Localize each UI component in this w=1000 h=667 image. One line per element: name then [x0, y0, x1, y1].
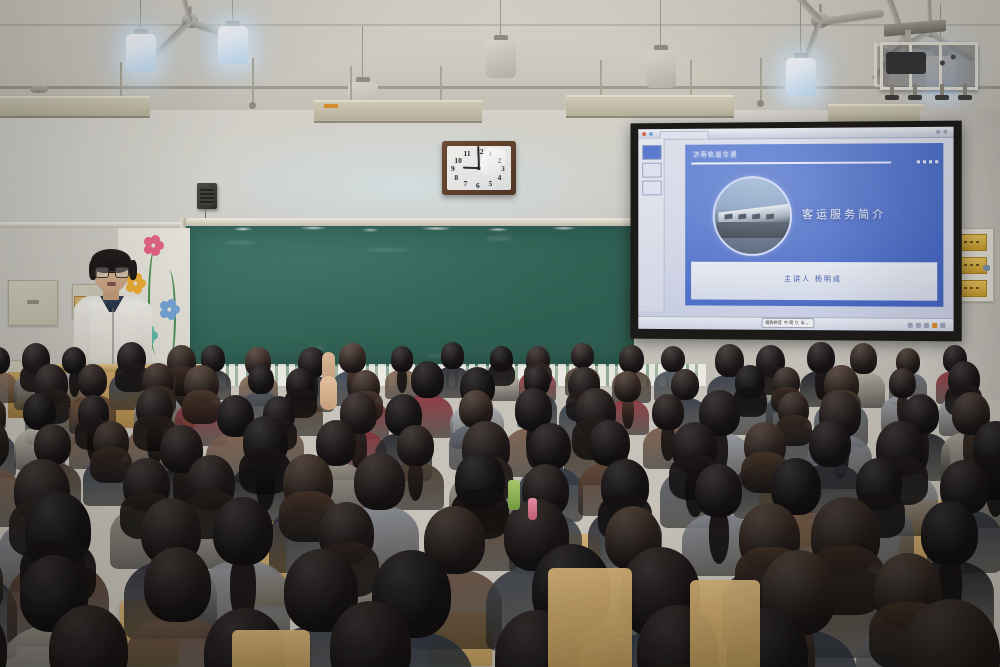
fluorescent-tube [126, 34, 156, 72]
flower-blue-icon [158, 298, 180, 320]
clock-numeral: 5 [489, 179, 493, 188]
chalk-dust [190, 224, 630, 234]
app-tab[interactable] [660, 130, 709, 139]
beam-knob [249, 102, 256, 109]
audience-member-head [619, 345, 644, 373]
projector-leg-foot [908, 95, 922, 100]
presenter-hair-side [129, 260, 137, 280]
app-titlebar [638, 127, 953, 140]
clock-numeral: 6 [476, 181, 480, 190]
audience-member-head [809, 420, 851, 467]
clock-numeral: 9 [451, 164, 455, 173]
smoke-detector-icon [30, 85, 48, 93]
audience-member-head [529, 423, 571, 470]
clock-numeral: 11 [464, 149, 471, 158]
audience-member-head [0, 347, 10, 374]
light-suspension-wire [660, 0, 661, 50]
wall-light-glow [170, 120, 640, 230]
projector-leg-foot [958, 95, 972, 100]
projector-leg-foot [885, 95, 899, 100]
clock-numeral: 10 [454, 156, 462, 165]
water-bottle [528, 498, 537, 520]
audience-member-head [652, 394, 684, 430]
presentation-app-window[interactable]: 济南轨道交通 客运服务简介 主讲人 杨明成 [638, 127, 953, 332]
electrical-panel [8, 280, 58, 326]
slide-presenter-line: 主讲人 杨明成 [691, 274, 937, 285]
slide-progress-dot [935, 160, 939, 163]
window-shade [566, 95, 734, 118]
window-shade [314, 100, 482, 123]
audience-member-head [397, 425, 433, 466]
ime-secondary-label: 搜狗拼音 [765, 320, 782, 326]
fluorescent-tube [786, 58, 816, 96]
audience-member-head [441, 342, 465, 369]
app-statusbar: 搜狗拼音 中 简 り 半 ， [638, 316, 953, 331]
projector-icon [886, 52, 926, 74]
tray-icon[interactable] [908, 323, 913, 328]
audience-member-head [248, 365, 274, 394]
ceiling-seam-lower [0, 86, 1000, 89]
audience-member-ponytail [709, 509, 729, 564]
audience-member-head [695, 464, 743, 518]
chair-back-foreground [548, 568, 632, 667]
slide-header-rule [691, 161, 892, 164]
water-bottle [508, 480, 520, 510]
audience-member-head [213, 497, 273, 565]
ime-language-bar[interactable]: 搜狗拼音 中 简 り 半 ， [761, 318, 814, 328]
beam-knob [757, 100, 764, 107]
audience-member-head [889, 368, 916, 399]
audience-member-head [411, 361, 444, 398]
projection-screen-surface: 济南轨道交通 客运服务简介 主讲人 杨明成 [638, 127, 953, 332]
audience-member-head [614, 371, 641, 402]
ime-primary-label: 中 简 り [784, 320, 799, 326]
ime-hint-label: 半 ， [801, 320, 811, 326]
audience-crowd [0, 330, 1000, 667]
window-shade [0, 96, 150, 118]
light-suspension-wire [500, 0, 501, 40]
slide-thumbnail[interactable] [642, 181, 662, 196]
fluorescent-tube [218, 26, 248, 64]
wall-speaker-icon [197, 183, 217, 209]
raised-arm [320, 376, 337, 410]
projector-leg-foot [935, 95, 949, 100]
slide-canvas: 济南轨道交通 客运服务简介 主讲人 杨明成 [685, 143, 943, 307]
light-suspension-wire [800, 2, 801, 58]
tray-icon[interactable] [940, 323, 945, 328]
light-suspension-wire [362, 26, 363, 82]
notice-board-latch [983, 265, 990, 271]
beam-drop-rod [252, 58, 254, 106]
chair-back-foreground [232, 630, 310, 667]
slide-thumbnail[interactable] [642, 163, 662, 178]
slide-footer-band: 主讲人 杨明成 [691, 262, 937, 301]
audience-member-head [571, 343, 594, 368]
eyeglasses-icon [95, 267, 127, 276]
presenter-mouth [107, 282, 116, 286]
slide-main-heading: 客运服务简介 [802, 206, 886, 222]
audience-member-head [339, 343, 366, 373]
system-tray[interactable] [908, 323, 946, 328]
audience-member-head [354, 453, 405, 510]
fluorescent-tube [646, 50, 676, 88]
fluorescent-tube [486, 40, 516, 78]
slide-progress-dots [916, 160, 938, 163]
chair-back-foreground [690, 580, 760, 667]
classroom-photo-scene: 121234567891011 [0, 0, 1000, 667]
slide-progress-dot [922, 160, 926, 163]
audience-member-long-hair [182, 390, 222, 425]
projector-cabling [928, 48, 964, 78]
audience-member-head [921, 501, 978, 565]
audience-member-head [391, 346, 413, 371]
tray-icon[interactable] [916, 323, 921, 328]
slide-header-title: 济南轨道交通 [693, 149, 737, 158]
audience-member-head [144, 547, 210, 622]
clock-face: 121234567891011 [447, 146, 511, 190]
projection-screen: 济南轨道交通 客运服务简介 主讲人 杨明成 [631, 121, 962, 342]
slide-navigator-panel[interactable] [638, 139, 664, 311]
wall-clock: 121234567891011 [442, 141, 516, 195]
audience-member-head [850, 343, 878, 374]
tray-icon-alert[interactable] [932, 323, 937, 328]
slide-progress-dot [929, 160, 933, 163]
slide-progress-dot [916, 160, 920, 163]
slide-thumbnail[interactable] [642, 145, 662, 160]
audience-member-head [78, 364, 108, 397]
clock-numeral: 7 [464, 179, 468, 188]
clock-numeral: 8 [454, 173, 458, 182]
beam-drop-rod [760, 58, 762, 104]
tray-icon[interactable] [924, 323, 929, 328]
slide-photo-circle [713, 176, 792, 256]
